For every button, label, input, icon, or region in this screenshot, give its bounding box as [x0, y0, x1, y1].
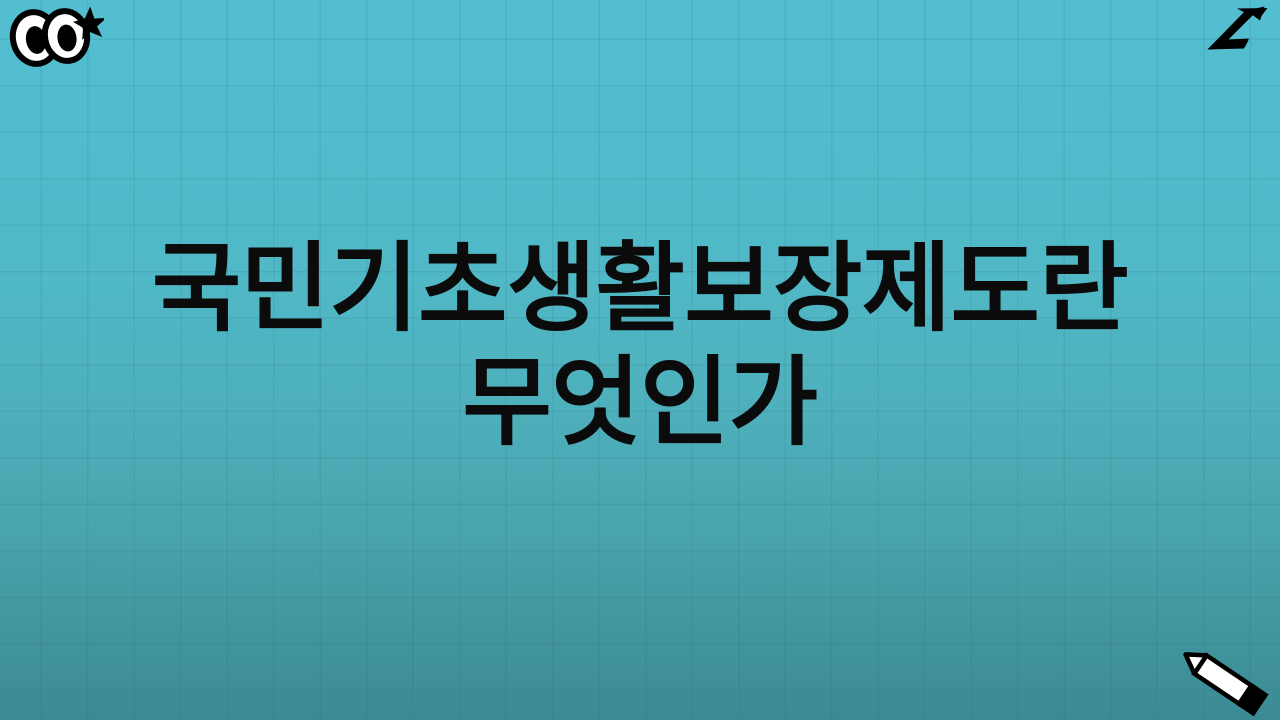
page-title: 국민기초생활보장제도란 무엇인가	[40, 232, 1240, 461]
thumbnail-canvas: 국민기초생활보장제도란 무엇인가	[0, 0, 1280, 720]
arrow-doodle	[1204, 2, 1272, 54]
pencil-doodle	[1170, 640, 1274, 718]
pencil-icon	[1179, 645, 1265, 713]
eyes-doodle	[4, 2, 104, 70]
title-block: 국민기초생활보장제도란 무엇인가	[0, 232, 1280, 461]
